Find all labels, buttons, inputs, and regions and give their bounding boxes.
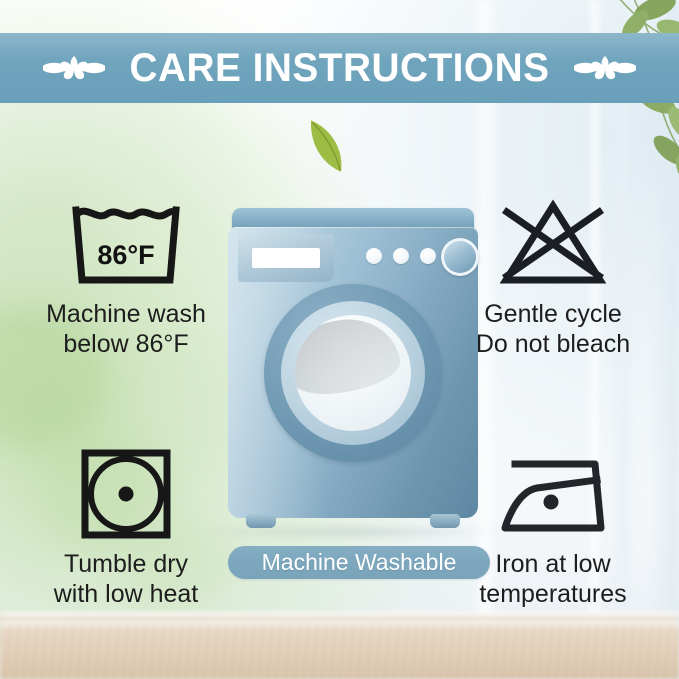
banner: CARE INSTRUCTIONS [0, 33, 679, 103]
iron-one-dot-icon-wrapper [493, 446, 613, 542]
wash-temperature-value: 86°F [68, 240, 184, 271]
triangle-crossed-out-icon [494, 196, 612, 292]
triangle-crossed-out-icon-wrapper [494, 196, 612, 292]
care-item-label: Gentle cycle Do not bleach [476, 300, 630, 359]
care-instructions-graphic: CARE INSTRUCTIONS 86°F Machine wash belo… [0, 0, 679, 679]
fleur-de-lis-icon [574, 46, 636, 90]
tumble-dry-low-icon [74, 446, 178, 542]
care-item-tumble-dry: Tumble dry with low heat [14, 446, 238, 609]
washer-button-row [366, 248, 436, 264]
washer-door-reflection [295, 315, 404, 399]
tumble-dry-low-icon-wrapper [74, 446, 178, 542]
table-edge [0, 612, 679, 621]
status-badge-label: Machine Washable [262, 551, 457, 574]
detergent-drawer-slot [252, 248, 320, 268]
iron-one-dot-icon [493, 446, 613, 542]
washing-machine-illustration [228, 208, 478, 532]
washer-door-glass [295, 315, 411, 431]
washer-door [264, 284, 442, 462]
washer-foot [430, 514, 460, 528]
background-bokeh-blob [150, 360, 240, 450]
washer-button [393, 248, 409, 264]
care-item-label: Iron at low temperatures [479, 550, 626, 609]
washer-foot [246, 514, 276, 528]
washer-program-dial [441, 238, 479, 276]
fleur-de-lis-icon [43, 46, 105, 90]
care-item-label: Machine wash below 86°F [46, 300, 206, 359]
washer-button [420, 248, 436, 264]
washer-button [366, 248, 382, 264]
page-title: CARE INSTRUCTIONS [130, 48, 550, 88]
detergent-drawer [238, 234, 334, 282]
washer-door-ring [281, 301, 425, 445]
wash-tub-icon-wrapper: 86°F [68, 196, 184, 292]
care-item-label: Tumble dry with low heat [54, 550, 199, 609]
wood-table-surface [0, 621, 679, 679]
care-item-machine-wash: 86°F Machine wash below 86°F [14, 196, 238, 359]
status-badge: Machine Washable [228, 546, 490, 579]
